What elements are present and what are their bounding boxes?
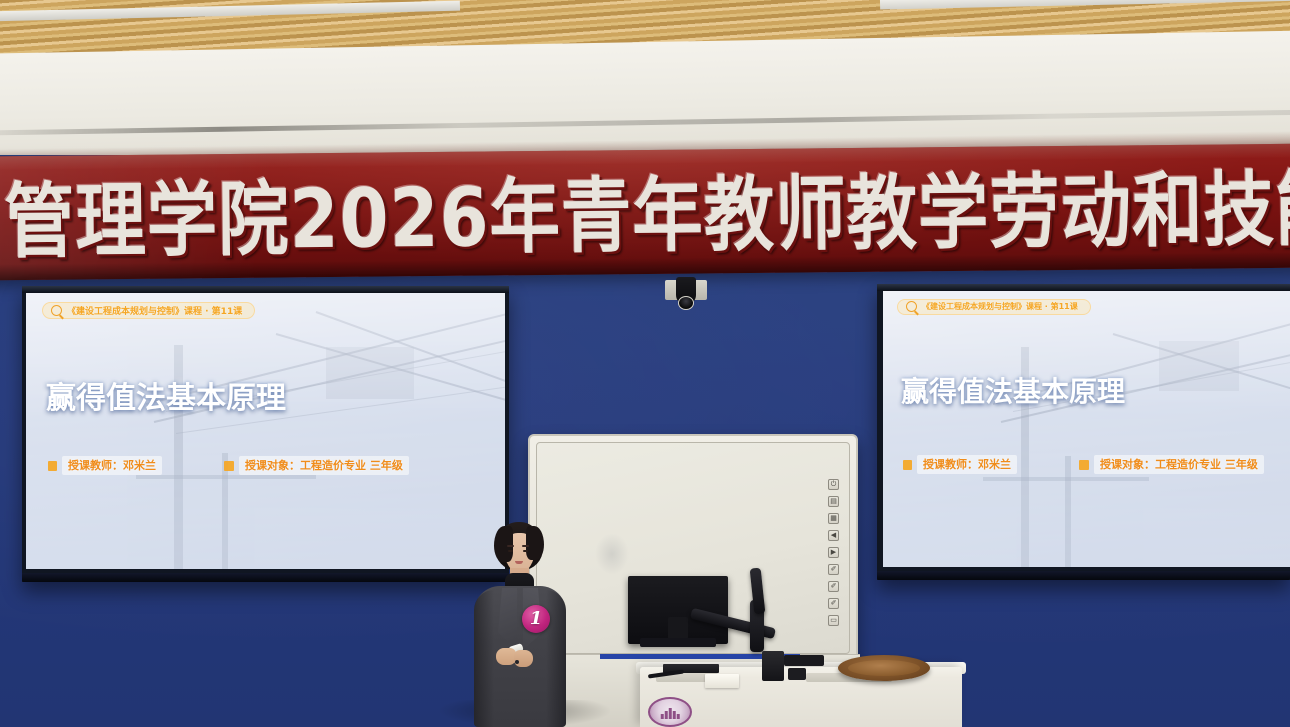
presenter-hair-right (526, 526, 544, 560)
slide-tag-audience-left: 授课对象：工程造价专业 三年级 (224, 456, 409, 475)
pen-icon: ✐ (831, 566, 837, 573)
pen-button-1[interactable]: ✐ (828, 564, 839, 575)
power-button[interactable]: ⏻ (828, 479, 839, 490)
slide-tag-teacher-left: 授课教师：邓米兰 (48, 456, 162, 475)
slide-tag-audience-label-right: 授课对象：工程造价专业 三年级 (1094, 455, 1264, 474)
eraser-button[interactable]: ▭ (828, 615, 839, 626)
presenter-hair-left (494, 526, 513, 562)
crest-bars-icon (661, 707, 680, 719)
slide-title-right: 赢得值法基本原理 (901, 370, 1125, 410)
presenter-brow-left (507, 545, 514, 547)
volume-down-button[interactable]: ◀ (828, 530, 839, 541)
slide-tag-teacher-right: 授课教师：邓米兰 (903, 455, 1017, 474)
left-screen-surface: 《建设工程成本规划与控制》课程 · 第11课 赢得值法基本原理 授课教师：邓米兰… (26, 293, 505, 569)
whiteboard-smudge (595, 533, 629, 575)
slide-course-pill-right: 《建设工程成本规划与控制》课程 · 第11课 (897, 299, 1091, 315)
screen-roller-bottom-right (877, 571, 1290, 580)
menu-button[interactable]: ▦ (828, 513, 839, 524)
monitor-neck (668, 617, 688, 639)
presenter-brow-right (522, 545, 529, 547)
wooden-tray-inner (848, 660, 920, 676)
jacket-button (515, 660, 519, 664)
eraser-icon: ▭ (830, 617, 837, 624)
screen-roller-top-right (877, 284, 1290, 291)
right-arrow-icon: ▶ (831, 549, 836, 556)
teacher-icon (48, 461, 57, 471)
projection-wash-right (883, 291, 1290, 567)
screen-roller-top-left (22, 286, 509, 293)
remote-on-tray (784, 655, 824, 666)
university-crest (648, 697, 692, 727)
camera-lens-icon (678, 296, 694, 310)
monitor-base (640, 638, 716, 647)
classroom-scene: 管理学院2026年青年教师教学劳动和技能竞赛 《建设工程成本 (0, 0, 1290, 727)
contestant-number-badge: 1 (522, 605, 550, 633)
search-icon (906, 301, 917, 312)
paper-stack (705, 674, 739, 688)
slide-course-pill-left: 《建设工程成本规划与控制》课程 · 第11课 (42, 302, 255, 319)
event-banner: 管理学院2026年青年教师教学劳动和技能竞赛 (0, 144, 1290, 281)
right-projection-screen: 《建设工程成本规划与控制》课程 · 第11课 赢得值法基本原理 授课教师：邓米兰… (877, 284, 1290, 580)
left-projection-screen: 《建设工程成本规划与控制》课程 · 第11课 赢得值法基本原理 授课教师：邓米兰… (22, 286, 509, 582)
slide-tag-audience-label: 授课对象：工程造价专业 三年级 (239, 456, 409, 475)
right-screen-surface: 《建设工程成本规划与控制》课程 · 第11课 赢得值法基本原理 授课教师：邓米兰… (883, 291, 1290, 567)
left-arrow-icon: ◀ (831, 532, 836, 539)
jacket-shade-right (546, 590, 566, 727)
slide-tag-teacher-label-right: 授课教师：邓米兰 (917, 455, 1017, 474)
slide-course-label: 《建设工程成本规划与控制》课程 · 第11课 (67, 304, 242, 317)
presenter-hand-left (496, 648, 516, 665)
presenter-hand-right (514, 650, 533, 667)
power-icon: ⏻ (831, 481, 837, 488)
source-button[interactable]: ▤ (828, 496, 839, 507)
jacket-shade-left (474, 590, 494, 727)
slide-title-left: 赢得值法基本原理 (46, 373, 286, 417)
slide-tag-teacher-label: 授课教师：邓米兰 (62, 456, 162, 475)
presenter-teacher: 1 (460, 520, 580, 727)
search-icon (51, 305, 62, 316)
screen-roller-bottom-left (22, 573, 509, 582)
audience-icon (1079, 460, 1089, 470)
volume-up-button[interactable]: ▶ (828, 547, 839, 558)
whiteboard-control-column[interactable]: ⏻ ▤ ▦ ◀ ▶ ✐ ✐ ✐ ▭ (828, 479, 839, 626)
slide-tag-audience-right: 授课对象：工程造价专业 三年级 (1079, 455, 1264, 474)
slide-course-label-right: 《建设工程成本规划与控制》课程 · 第11课 (922, 301, 1078, 312)
badge-number: 1 (530, 608, 543, 629)
pen-button-3[interactable]: ✐ (828, 598, 839, 609)
pen-button-2[interactable]: ✐ (828, 581, 839, 592)
small-black-device (788, 668, 806, 680)
speaker-box (762, 651, 784, 681)
teacher-icon (903, 460, 912, 470)
projection-wash-left (26, 293, 505, 569)
pen-icon: ✐ (831, 600, 837, 607)
source-icon: ▤ (830, 498, 837, 505)
pen-icon: ✐ (831, 583, 837, 590)
audience-icon (224, 461, 234, 471)
menu-icon: ▦ (830, 515, 837, 522)
